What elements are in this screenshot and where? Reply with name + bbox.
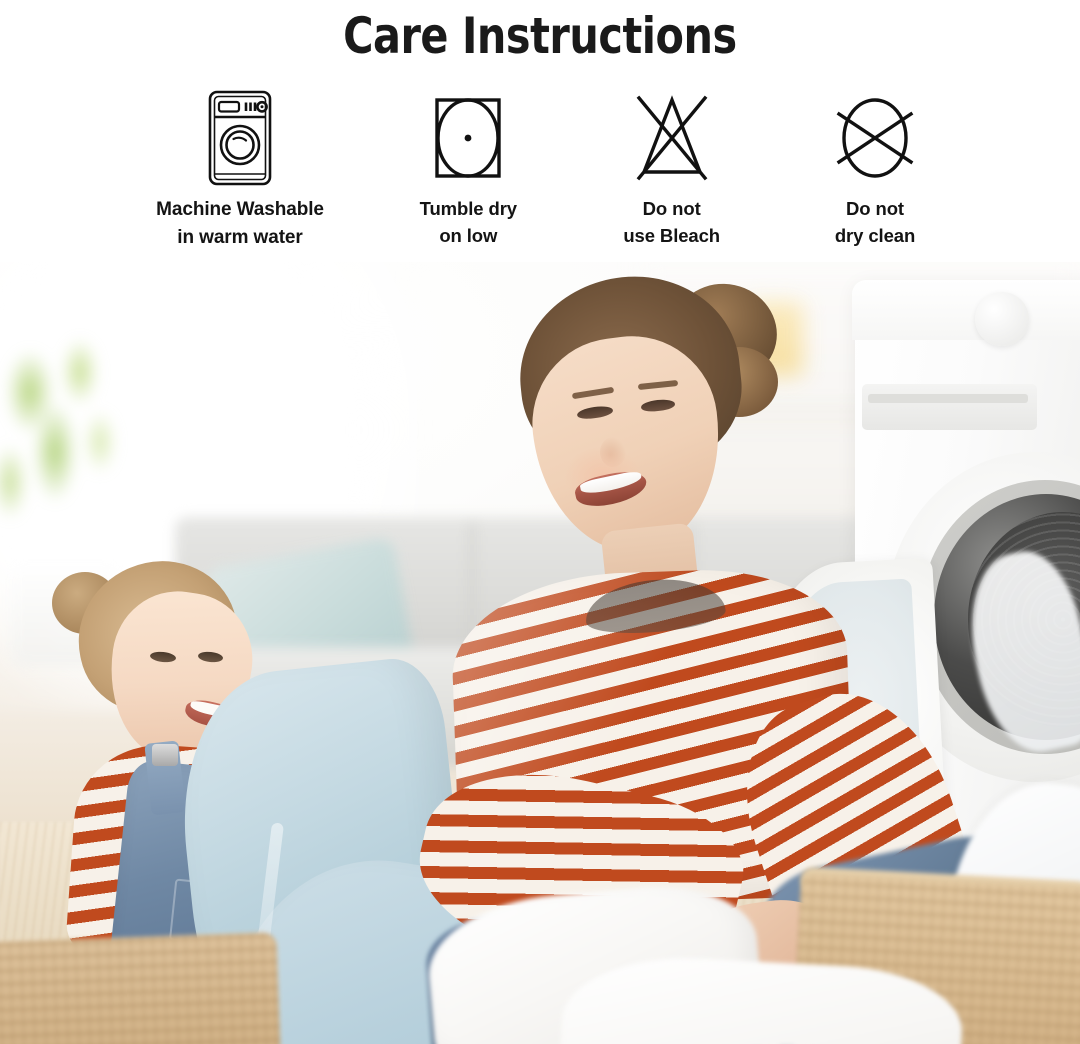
care-label-do-not-dry-clean: Do not dry clean [835, 196, 915, 250]
care-item-do-not-dry-clean: Do not dry clean [785, 86, 965, 250]
tumble-dry-low-icon [425, 86, 511, 190]
care-item-tumble-dry: Tumble dry on low [378, 86, 558, 250]
care-instructions-page: Care Instructions [0, 0, 1080, 1044]
care-label-tumble-dry: Tumble dry on low [420, 196, 517, 250]
care-label-machine-washable: Machine Washable in warm water [156, 196, 324, 251]
page-title: Care Instructions [343, 7, 737, 65]
detergent-drawer [862, 384, 1037, 430]
washing-machine-icon [200, 86, 280, 190]
care-label-do-not-bleach: Do not use Bleach [623, 196, 720, 250]
do-not-dry-clean-icon [830, 86, 920, 190]
girl-overall-buckle [152, 744, 178, 766]
washing-machine-dial [975, 292, 1029, 346]
care-item-do-not-bleach: Do not use Bleach [582, 86, 762, 250]
washing-machine-top [852, 280, 1080, 340]
page-header: Care Instructions [0, 0, 1080, 72]
lifestyle-photo [0, 262, 1080, 1044]
care-item-machine-washable: Machine Washable in warm water [125, 86, 355, 251]
detergent-drawer-handle [868, 394, 1028, 403]
wicker-basket-left [0, 932, 283, 1044]
do-not-bleach-icon [627, 86, 717, 190]
care-symbol-row: Machine Washable in warm water Tumble dr… [125, 86, 965, 261]
